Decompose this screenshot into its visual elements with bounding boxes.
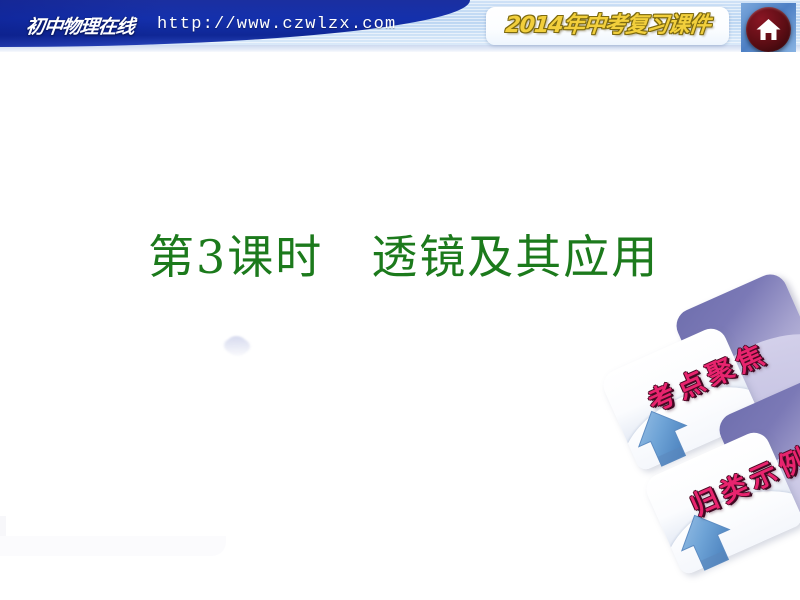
site-logo: 初中物理在线	[25, 12, 136, 39]
course-plaque-label: 2014年中考复习课件	[484, 7, 730, 45]
course-plaque: 2014年中考复习课件	[486, 7, 729, 45]
background-faint-band	[0, 536, 226, 556]
navigation-buttons: 考点聚焦 归类示例	[0, 0, 800, 600]
presentation-slide: 初中物理在线 http://www.czwlzx.com 2014年中考复习课件…	[0, 0, 800, 600]
background-faint-edge	[0, 516, 6, 538]
slide-header: 初中物理在线 http://www.czwlzx.com 2014年中考复习课件	[0, 0, 800, 52]
arrow-up-icon[interactable]	[676, 510, 736, 572]
site-url-link[interactable]: http://www.czwlzx.com	[157, 15, 396, 34]
header-bottom-fade	[0, 45, 800, 52]
arrow-up-icon[interactable]	[633, 406, 693, 468]
background-smudge	[220, 333, 254, 359]
home-button[interactable]	[741, 3, 796, 52]
home-icon[interactable]	[746, 7, 791, 52]
page-title: 第3课时 透镜及其应用	[148, 221, 659, 287]
